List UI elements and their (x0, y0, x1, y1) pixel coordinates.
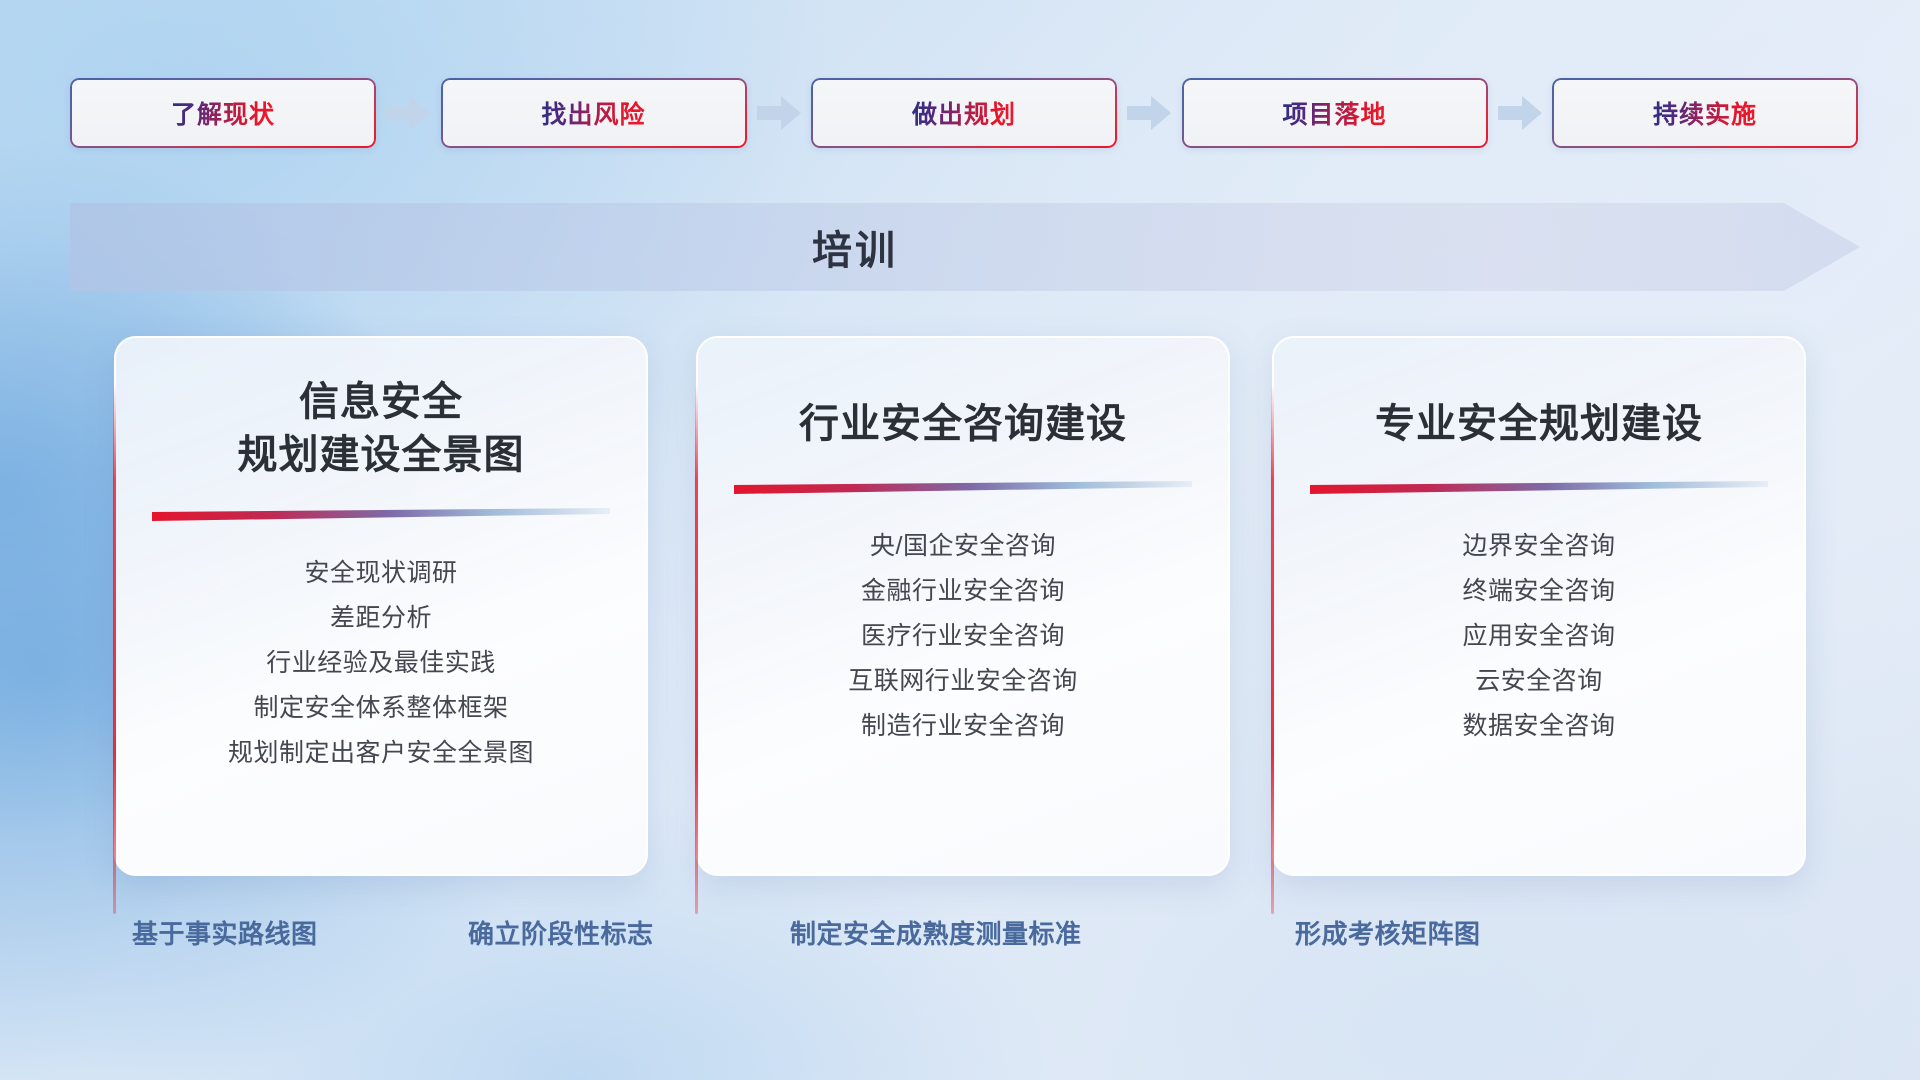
process-step-2[interactable]: 找出风险 (441, 78, 747, 148)
caption-3: 制定安全成熟度测量标准 (790, 914, 1082, 951)
card-2[interactable]: 行业安全咨询建设 (696, 336, 1230, 876)
caption-1: 基于事实路线图 (132, 914, 318, 951)
card-2-divider (734, 481, 1192, 494)
card-3-divider (1310, 481, 1768, 494)
card-2-title: 行业安全咨询建设 (799, 376, 1127, 451)
training-banner-label: 培训 (70, 203, 1640, 291)
chevron-right-arrow-icon (757, 96, 801, 130)
chevron-right-arrow-icon (386, 96, 430, 130)
card-3[interactable]: 专业安全规划建设 (1272, 336, 1806, 876)
list-item: 差距分析 (228, 596, 534, 641)
card-1-title-line-2: 规划建设全景图 (238, 429, 525, 482)
list-item: 行业经验及最佳实践 (228, 641, 534, 686)
process-step-5-label: 持续实施 (1653, 95, 1757, 131)
list-item: 应用安全咨询 (1462, 614, 1615, 659)
card-1-title-line-1: 信息安全 (238, 376, 525, 429)
list-item: 制造行业安全咨询 (848, 704, 1078, 749)
card-3-title: 专业安全规划建设 (1375, 376, 1703, 451)
list-item: 边界安全咨询 (1462, 524, 1615, 569)
list-item: 规划制定出客户安全全景图 (228, 731, 534, 776)
list-item: 终端安全咨询 (1462, 569, 1615, 614)
list-item: 医疗行业安全咨询 (848, 614, 1078, 659)
process-step-3[interactable]: 做出规划 (811, 78, 1117, 148)
caption-row: 基于事实路线图 确立阶段性标志 制定安全成熟度测量标准 形成考核矩阵图 (0, 914, 1920, 960)
card-3-title-line-1: 专业安全规划建设 (1375, 398, 1703, 451)
chevron-right-arrow-icon (1498, 96, 1542, 130)
process-step-4-label: 项目落地 (1282, 95, 1386, 131)
training-banner: 培训 (70, 203, 1860, 291)
card-2-list: 央/国企安全咨询 金融行业安全咨询 医疗行业安全咨询 互联网行业安全咨询 制造行… (848, 524, 1078, 749)
process-step-1-label: 了解现状 (171, 95, 275, 131)
card-row: 信息安全 规划建设全景图 (0, 336, 1920, 876)
process-step-3-label: 做出规划 (912, 95, 1016, 131)
card-1-divider (152, 508, 610, 521)
card-1-title: 信息安全 规划建设全景图 (238, 376, 525, 482)
caption-4: 形成考核矩阵图 (1295, 914, 1481, 951)
list-item: 数据安全咨询 (1462, 704, 1615, 749)
process-step-1[interactable]: 了解现状 (70, 78, 376, 148)
list-item: 安全现状调研 (228, 551, 534, 596)
process-step-5[interactable]: 持续实施 (1552, 78, 1858, 148)
list-item: 互联网行业安全咨询 (848, 659, 1078, 704)
card-2-title-line-1: 行业安全咨询建设 (799, 398, 1127, 451)
process-step-row: 了解现状 找出风险 做出规划 项目落地 持续实施 (70, 78, 1858, 148)
card-1-list: 安全现状调研 差距分析 行业经验及最佳实践 制定安全体系整体框架 规划制定出客户… (228, 551, 534, 776)
list-item: 云安全咨询 (1462, 659, 1615, 704)
process-step-4[interactable]: 项目落地 (1182, 78, 1488, 148)
list-item: 金融行业安全咨询 (848, 569, 1078, 614)
card-3-list: 边界安全咨询 终端安全咨询 应用安全咨询 云安全咨询 数据安全咨询 (1462, 524, 1615, 749)
list-item: 制定安全体系整体框架 (228, 686, 534, 731)
chevron-right-arrow-icon (1127, 96, 1171, 130)
card-1[interactable]: 信息安全 规划建设全景图 (114, 336, 648, 876)
slide-canvas: 了解现状 找出风险 做出规划 项目落地 持续实施 培训 (0, 0, 1920, 1080)
caption-2: 确立阶段性标志 (468, 914, 654, 951)
list-item: 央/国企安全咨询 (848, 524, 1078, 569)
process-step-2-label: 找出风险 (541, 95, 645, 131)
